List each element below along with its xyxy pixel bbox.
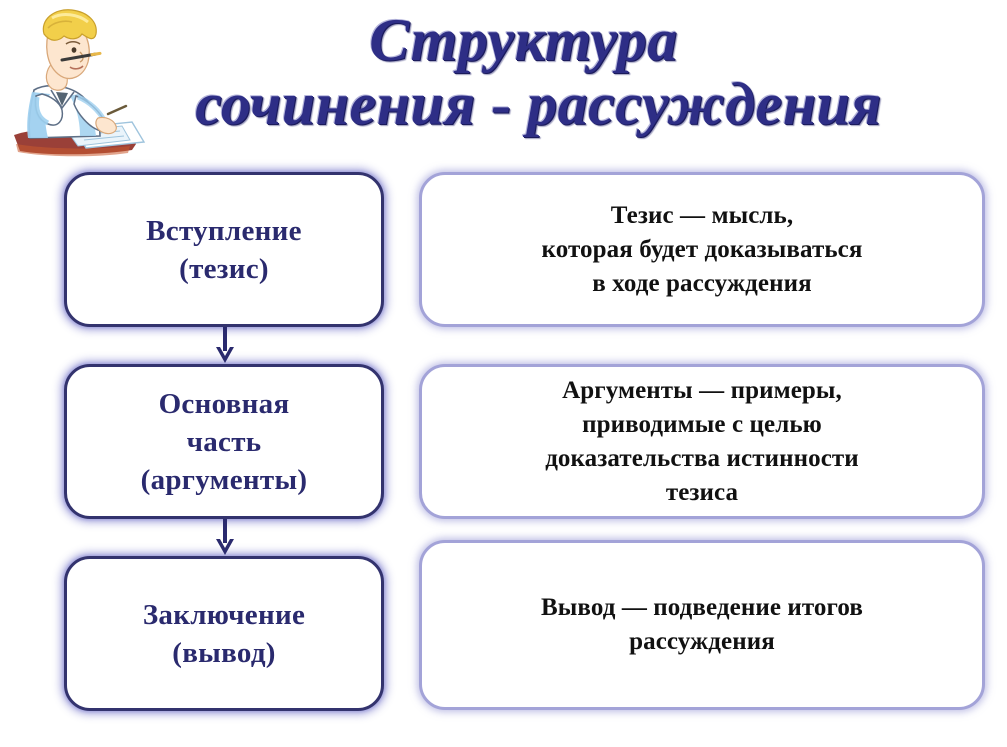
- definition-arguments-line-2: приводимые с целью: [582, 411, 822, 438]
- definition-box-summary[interactable]: Вывод — подведение итогов рассуждения: [419, 540, 985, 710]
- stage-box-main[interactable]: Основная часть (аргументы): [64, 364, 384, 519]
- definition-thesis-line-1: Тезис — мысль,: [611, 202, 793, 229]
- definition-box-arguments-text: Аргументы — примеры, приводимые с целью …: [422, 374, 982, 510]
- definition-box-thesis-text: Тезис — мысль, которая будет доказыватьс…: [422, 199, 982, 301]
- definition-summary-line-2: рассуждения: [629, 628, 775, 655]
- definition-box-summary-text: Вывод — подведение итогов рассуждения: [422, 591, 982, 659]
- stage-box-main-label: Основная часть (аргументы): [67, 385, 381, 499]
- arrow-down-icon: [212, 519, 238, 559]
- stage-box-intro-label: Вступление (тезис): [67, 212, 381, 288]
- stage-box-conclusion-label-line-1: Заключение: [143, 599, 305, 631]
- definition-box-arguments[interactable]: Аргументы — примеры, приводимые с целью …: [419, 364, 985, 519]
- definition-arguments-line-1: Аргументы — примеры,: [562, 377, 842, 404]
- stage-box-main-label-line-3: (аргументы): [141, 464, 308, 496]
- definition-thesis-line-2: которая будет доказываться: [542, 236, 863, 263]
- arrow-down-icon: [212, 327, 238, 367]
- stage-box-conclusion-label: Заключение (вывод): [67, 596, 381, 672]
- slide-canvas: Структура сочинения - рассуждения Вступл…: [0, 0, 1007, 747]
- stage-box-intro-label-line-1: Вступление: [146, 215, 302, 247]
- stage-box-main-label-line-2: часть: [187, 426, 262, 458]
- student-writing-illustration: [4, 4, 154, 162]
- definition-arguments-line-4: тезиса: [666, 479, 738, 506]
- stage-box-intro[interactable]: Вступление (тезис): [64, 172, 384, 327]
- definition-arguments-line-3: доказательства истинности: [545, 445, 859, 472]
- definition-thesis-line-3: в ходе рассуждения: [592, 270, 812, 297]
- stage-box-main-label-line-1: Основная: [159, 388, 290, 420]
- definition-box-thesis[interactable]: Тезис — мысль, которая будет доказыватьс…: [419, 172, 985, 327]
- stage-box-conclusion-label-line-2: (вывод): [172, 637, 276, 669]
- stage-box-conclusion[interactable]: Заключение (вывод): [64, 556, 384, 711]
- definition-summary-line-1: Вывод — подведение итогов: [541, 594, 863, 621]
- stage-box-intro-label-line-2: (тезис): [179, 253, 269, 285]
